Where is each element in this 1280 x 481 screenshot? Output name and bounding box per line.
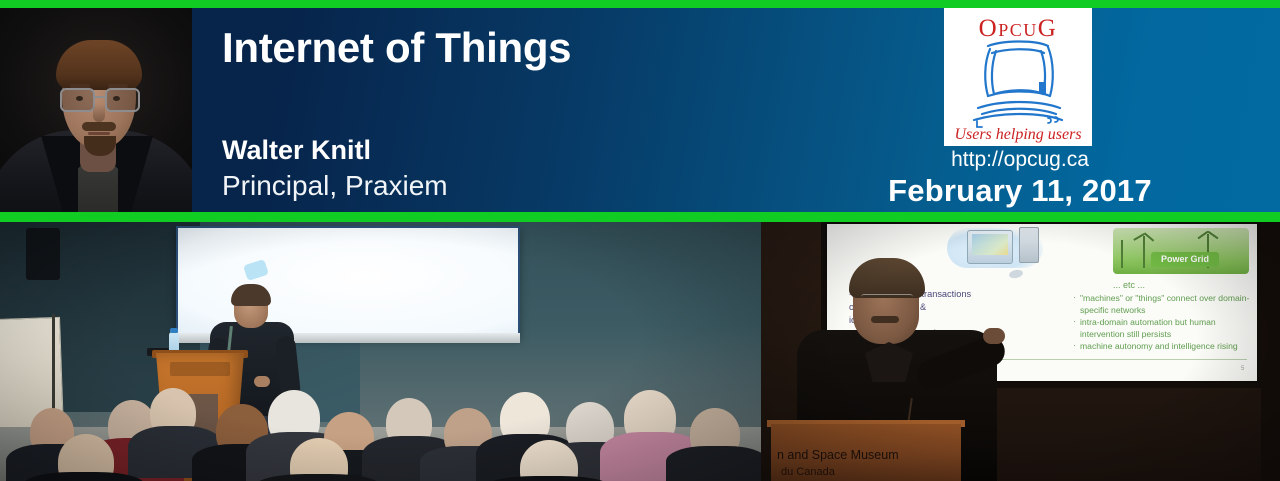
power-grid-illustration [1113,228,1249,274]
presenter-closeup-hand [983,328,1005,344]
svg-text:OPCUG: OPCUG [979,15,1058,42]
portrait-mouth [88,132,110,135]
eyeglass-bridge [93,96,105,98]
opcug-logo-icon: OPCUG Users helping user [944,8,1092,146]
slide-bullet: intra-domain automation but human interv… [1071,317,1261,340]
slide-bullet-list: "machines" or "things" connect over doma… [1071,293,1261,354]
portrait-moustache [82,122,116,131]
audience-torso [666,446,761,481]
speaker-name: Walter Knitl [222,135,371,166]
speaker-portrait-photo [0,8,192,212]
power-grid-label: Power Grid [1151,252,1219,267]
presentation-banner: Internet of Things Walter Knitl Principa… [0,0,1280,481]
server-tower-icon [1019,227,1039,263]
podium-inscription-line2: du Canada [781,466,835,478]
opcug-logo[interactable]: OPCUG Users helping user [944,8,1092,146]
presenter-closeup-eyeglasses [861,294,913,307]
wind-turbine-mast [1143,236,1145,268]
green-rule-top [0,0,1280,8]
presenter-closeup-moustache [871,316,899,323]
monitor-screen [972,234,1008,255]
page-title: Internet of Things [222,24,571,72]
eyeglass-lens-right [105,88,140,112]
monitor-icon [967,230,1013,264]
event-date: February 11, 2017 [880,173,1160,209]
svg-text:Users helping users: Users helping users [954,126,1081,143]
presenter-closeup-photo: Power Grid ... etc ... -human comm. & tr… [761,222,1280,481]
portrait-hair [56,40,142,90]
podium-inscription-line1: n and Space Museum [777,448,899,462]
slide-bullet: machine autonomy and intelligence rising [1071,341,1261,353]
slide-etc-label: ... etc ... [1113,280,1145,290]
website-url[interactable]: http://opcug.ca [880,148,1160,172]
eyeglass-lens-left [60,88,95,112]
audience-photo [0,222,761,481]
audience-rows [0,222,761,481]
slide-bullet: "machines" or "things" connect over doma… [1071,293,1261,316]
smokestack [1121,240,1123,268]
presenter-closeup-hair [849,258,925,298]
right-edge-shadow [1261,222,1280,481]
speaker-role: Principal, Praxiem [222,170,448,202]
slide-page-number: 5 [1241,366,1244,372]
green-rule-middle [0,212,1280,222]
photo-strip: Power Grid ... etc ... -human comm. & tr… [0,222,1280,481]
portrait-nose [93,104,105,122]
